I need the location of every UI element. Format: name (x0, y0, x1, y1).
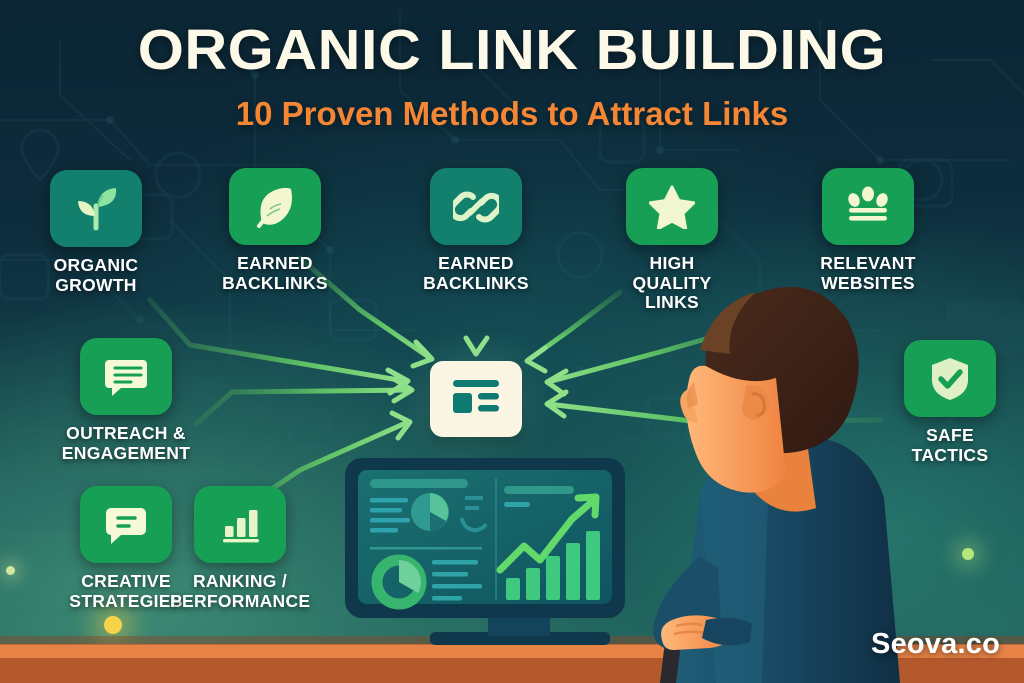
message-lines-icon (103, 355, 149, 399)
crown-icon (845, 186, 891, 228)
watermark-seova: Seova.co (871, 628, 1000, 661)
tile-earned-backlinks-link[interactable] (430, 168, 522, 245)
tile-earned-backlinks-leaf[interactable] (229, 168, 321, 245)
desktop-monitor (345, 458, 625, 645)
node-relevant-websites[interactable]: RELEVANT WEBSITES (798, 168, 938, 293)
label-earned-backlinks-link: EARNED BACKLINKS (406, 254, 546, 293)
person-back-view (653, 287, 900, 683)
label-organic-growth: ORGANIC GROWTH (26, 256, 166, 295)
label-outreach-engagement: OUTREACH & ENGAGEMENT (56, 424, 196, 463)
shield-check-icon (928, 356, 972, 402)
node-earned-backlinks-leaf[interactable]: EARNED BACKLINKS (205, 168, 345, 293)
node-earned-backlinks-link[interactable]: EARNED BACKLINKS (406, 168, 546, 293)
tile-ranking-performance[interactable] (194, 486, 286, 563)
node-organic-growth[interactable]: ORGANIC GROWTH (26, 170, 166, 295)
label-high-quality-links: HIGH QUALITY LINKS (602, 254, 742, 313)
chat-bubble-icon (104, 504, 148, 546)
tile-organic-growth[interactable] (50, 170, 142, 247)
label-safe-tactics: SAFE TACTICS (880, 426, 1020, 465)
sprout-icon (73, 186, 119, 232)
tile-high-quality-links[interactable] (626, 168, 718, 245)
node-ranking-performance[interactable]: RANKING / PERFORMANCE (170, 486, 310, 611)
star-icon (649, 185, 695, 229)
label-earned-backlinks-leaf: EARNED BACKLINKS (205, 254, 345, 293)
tile-creative-strategies[interactable] (80, 486, 172, 563)
node-safe-tactics[interactable]: SAFE TACTICS (880, 340, 1020, 465)
bar-chart-icon (218, 504, 262, 546)
leaf-icon (253, 185, 297, 229)
tile-relevant-websites[interactable] (822, 168, 914, 245)
tile-safe-tactics[interactable] (904, 340, 996, 417)
chain-link-icon (453, 184, 499, 230)
node-outreach-engagement[interactable]: OUTREACH & ENGAGEMENT (56, 338, 196, 463)
tile-outreach-engagement[interactable] (80, 338, 172, 415)
label-relevant-websites: RELEVANT WEBSITES (798, 254, 938, 293)
infographic-canvas: ORGANIC LINK BUILDING 10 Proven Methods … (0, 0, 1024, 683)
node-high-quality-links[interactable]: HIGH QUALITY LINKS (602, 168, 742, 313)
label-ranking-performance: RANKING / PERFORMANCE (170, 572, 310, 611)
